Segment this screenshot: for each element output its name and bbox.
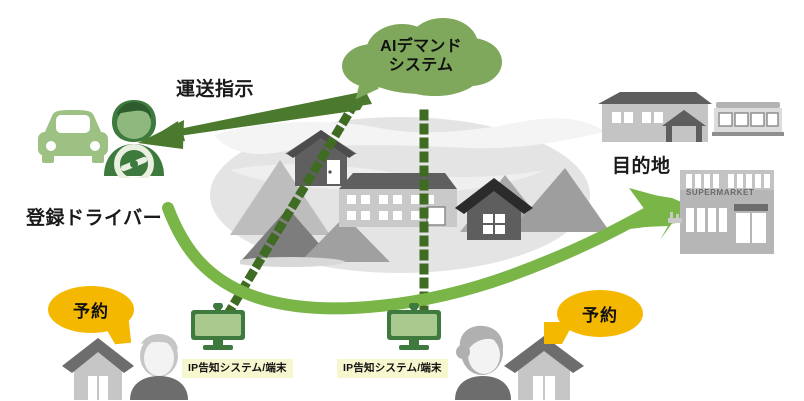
reservation-bubble-right: 予約 xyxy=(557,290,643,337)
label-transport-instruction: 運送指示 xyxy=(176,74,254,101)
person-bottom-left-icon xyxy=(128,334,190,400)
cloud-text-block: AIデマンド システム xyxy=(336,38,506,76)
supermarket-icon xyxy=(668,170,774,254)
supermarket-sign: SUPERMARKET xyxy=(686,188,754,197)
terminal-label-right: IP告知システム/端末 xyxy=(337,359,448,378)
station-building-icon xyxy=(592,88,718,146)
station-roof xyxy=(598,92,712,104)
monitor-left-icon[interactable] xyxy=(190,303,246,351)
cloud-line-2: システム xyxy=(389,57,454,74)
diagram-canvas: AIデマンド システム xyxy=(0,0,804,401)
driver-icon xyxy=(96,98,172,178)
ai-demand-system-callout: AIデマンド システム xyxy=(336,18,506,96)
monitor-right-icon[interactable] xyxy=(386,303,442,351)
terminal-label-left: IP告知システム/端末 xyxy=(182,359,293,378)
label-destination: 目的地 xyxy=(612,151,671,178)
house-bottom-right-icon xyxy=(504,336,584,400)
label-registered-driver: 登録ドライバー xyxy=(26,203,162,230)
house-bottom-left-icon xyxy=(62,338,134,400)
bus-icon xyxy=(712,94,784,144)
cloud-line-1: AIデマンド xyxy=(380,38,462,55)
reservation-bubble-left: 予約 xyxy=(48,286,134,333)
